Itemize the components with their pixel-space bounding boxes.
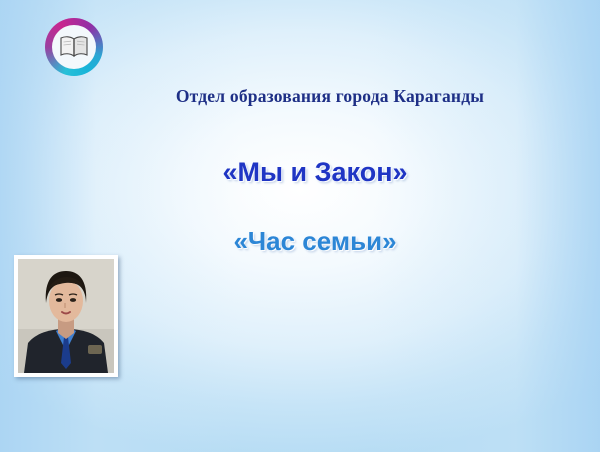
event-sub-title: «Час семьи» [150, 226, 480, 257]
open-book-icon [59, 35, 89, 59]
logo-inner-circle [52, 25, 96, 69]
photo-police-woman [14, 255, 118, 377]
education-department-logo [45, 18, 103, 76]
photo-police-woman-image [18, 259, 114, 373]
event-main-title: «Мы и Закон» [150, 157, 480, 188]
presentation-slide: Отдел образования города Караганды «Мы и… [0, 0, 600, 452]
organization-title: Отдел образования города Караганды [110, 86, 550, 107]
